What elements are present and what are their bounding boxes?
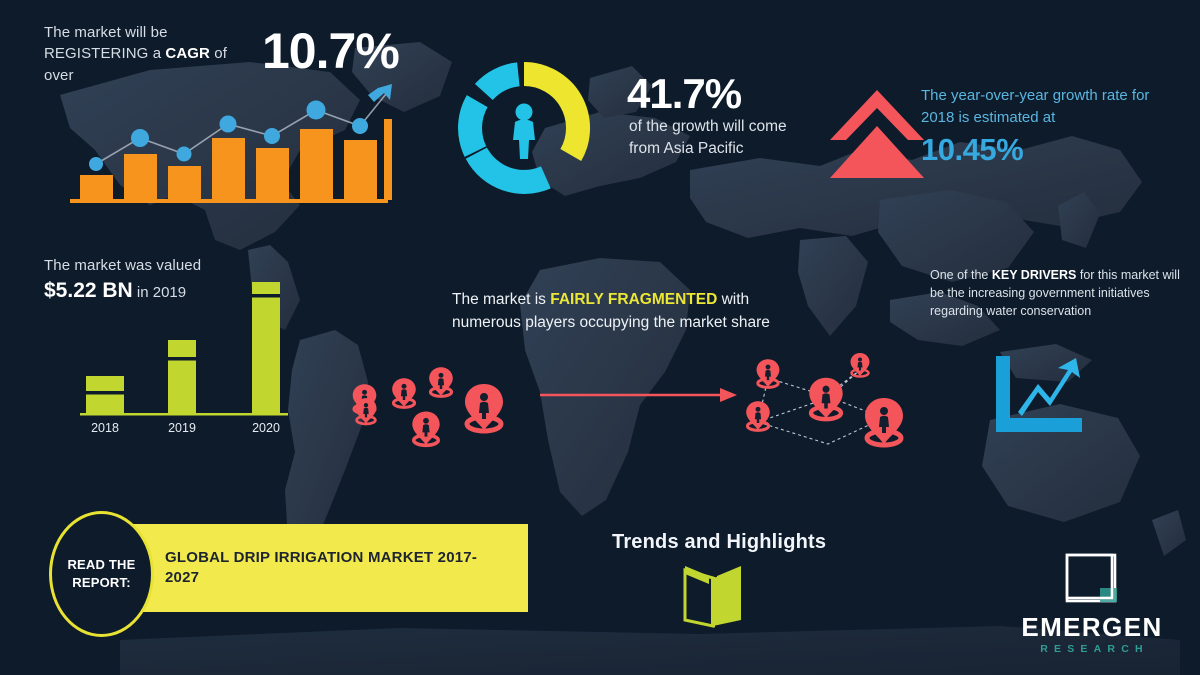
bar-2018 — [86, 376, 124, 413]
asia-pacific-donut-chart — [444, 48, 604, 208]
donut-slice-row-b — [457, 95, 488, 158]
double-up-arrow-icon — [828, 88, 926, 180]
bar-label-2020: 2020 — [252, 421, 280, 435]
chart-baseline — [70, 199, 388, 203]
donut-slice-asia-pacific — [524, 62, 590, 161]
report-title: GLOBAL DRIP IRRIGATION MARKET 2017-2027 — [165, 548, 495, 589]
fragmented-caption: The market is FAIRLY FRAGMENTED with num… — [452, 288, 812, 335]
logo-name: EMERGEN — [1002, 614, 1182, 640]
bar-2019 — [168, 340, 196, 413]
key-drivers-caption: One of the KEY DRIVERS for this market w… — [930, 267, 1180, 320]
cagr-line2-post: of — [210, 45, 227, 62]
trends-highlights-title: Trends and Highlights — [612, 531, 826, 554]
asia-pacific-value: 41.7% — [627, 70, 741, 118]
bar-label-2018: 2018 — [91, 421, 119, 435]
yoy-caption: The year-over-year growth rate for 2018 … — [921, 85, 1171, 129]
open-book-icon — [677, 562, 749, 628]
trend-arrow-icon — [368, 84, 392, 102]
cagr-line1: The market will be — [44, 24, 168, 41]
donut-slice-row-c — [475, 62, 520, 100]
yoy-value: 10.45% — [921, 132, 1023, 168]
bar-2020 — [252, 282, 280, 413]
fragmented-pre: The market is — [452, 291, 550, 308]
logo-subtitle: RESEARCH — [1002, 644, 1182, 655]
read-report-circle[interactable]: READ THE REPORT: — [49, 511, 154, 637]
drivers-bold: KEY DRIVERS — [992, 268, 1077, 282]
cagr-value: 10.7% — [262, 22, 399, 80]
cagr-trend-chart — [62, 82, 392, 207]
infographic-canvas: The market will be REGISTERING a CAGR of… — [0, 0, 1200, 675]
market-value-bar-chart: 2018 2019 2020 — [70, 275, 320, 440]
cagr-caption: The market will be REGISTERING a CAGR of… — [44, 22, 249, 86]
read-report-label: READ THE REPORT: — [52, 556, 151, 591]
scattered-market-players — [336, 352, 526, 452]
read-report-banner[interactable]: GLOBAL DRIP IRRIGATION MARKET 2017-2027 — [110, 524, 528, 612]
person-icon — [513, 104, 535, 160]
drivers-pre: One of the — [930, 268, 992, 282]
growth-chart-icon — [992, 356, 1084, 434]
donut-slice-row-a — [464, 146, 554, 196]
asia-pacific-caption: of the growth will come from Asia Pacifi… — [629, 116, 819, 161]
cagr-line2-pre: REGISTERING a — [44, 45, 165, 62]
square-outline-icon — [1064, 552, 1120, 606]
bar-label-2019: 2019 — [168, 421, 196, 435]
emergen-research-logo: EMERGEN RESEARCH — [1002, 552, 1182, 655]
connected-market-players — [736, 348, 926, 460]
right-arrow-icon — [540, 385, 738, 405]
green-chart-baseline — [80, 413, 288, 416]
fragmented-highlight: FAIRLY FRAGMENTED — [550, 291, 717, 308]
chart-bars — [80, 119, 392, 200]
valuation-caption: The market was valued — [44, 255, 274, 276]
cagr-line2-bold: CAGR — [165, 45, 210, 62]
